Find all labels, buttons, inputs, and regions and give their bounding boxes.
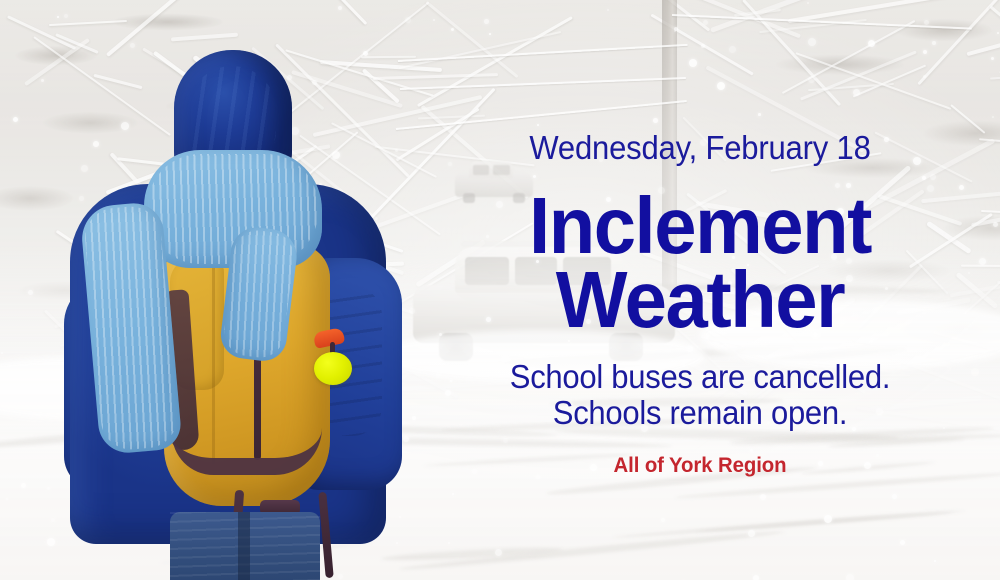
snowflake bbox=[979, 258, 986, 265]
snowflake bbox=[47, 487, 50, 490]
snowflake bbox=[997, 32, 999, 34]
snowflake bbox=[47, 538, 55, 546]
backpack-bottom-strap bbox=[172, 428, 322, 475]
snowflake bbox=[993, 222, 998, 227]
announcement-headline: Inclement Weather bbox=[434, 189, 966, 337]
snowflake bbox=[57, 16, 59, 18]
snowflake bbox=[21, 483, 26, 488]
snowflake bbox=[338, 6, 342, 10]
status-buses-cancelled: School buses are cancelled. bbox=[437, 358, 963, 396]
reflector-tag bbox=[314, 352, 352, 385]
snowflake bbox=[28, 290, 33, 295]
announcement-text-block: Wednesday, February 18 Inclement Weather… bbox=[420, 0, 980, 580]
snowflake bbox=[51, 518, 55, 522]
snowflake bbox=[409, 308, 415, 314]
affected-region-label: All of York Region bbox=[428, 454, 971, 478]
snowflake bbox=[992, 116, 994, 118]
jeans-texture bbox=[170, 512, 320, 580]
status-schools-open: Schools remain open. bbox=[437, 394, 963, 432]
snowflake bbox=[991, 57, 994, 60]
snowflake bbox=[64, 14, 68, 18]
snowflake bbox=[405, 17, 411, 23]
headline-line-2: Weather bbox=[434, 263, 966, 337]
inclement-weather-banner: Wednesday, February 18 Inclement Weather… bbox=[0, 0, 1000, 580]
snowflake bbox=[41, 79, 44, 82]
announcement-date: Wednesday, February 18 bbox=[437, 129, 963, 167]
snowflake bbox=[412, 416, 416, 420]
snowflake bbox=[1, 352, 3, 354]
blue-jeans bbox=[170, 512, 320, 580]
child-figure bbox=[58, 42, 408, 580]
snowflake bbox=[13, 117, 18, 122]
headline-line-1: Inclement bbox=[434, 189, 966, 263]
snowflake bbox=[6, 498, 8, 500]
